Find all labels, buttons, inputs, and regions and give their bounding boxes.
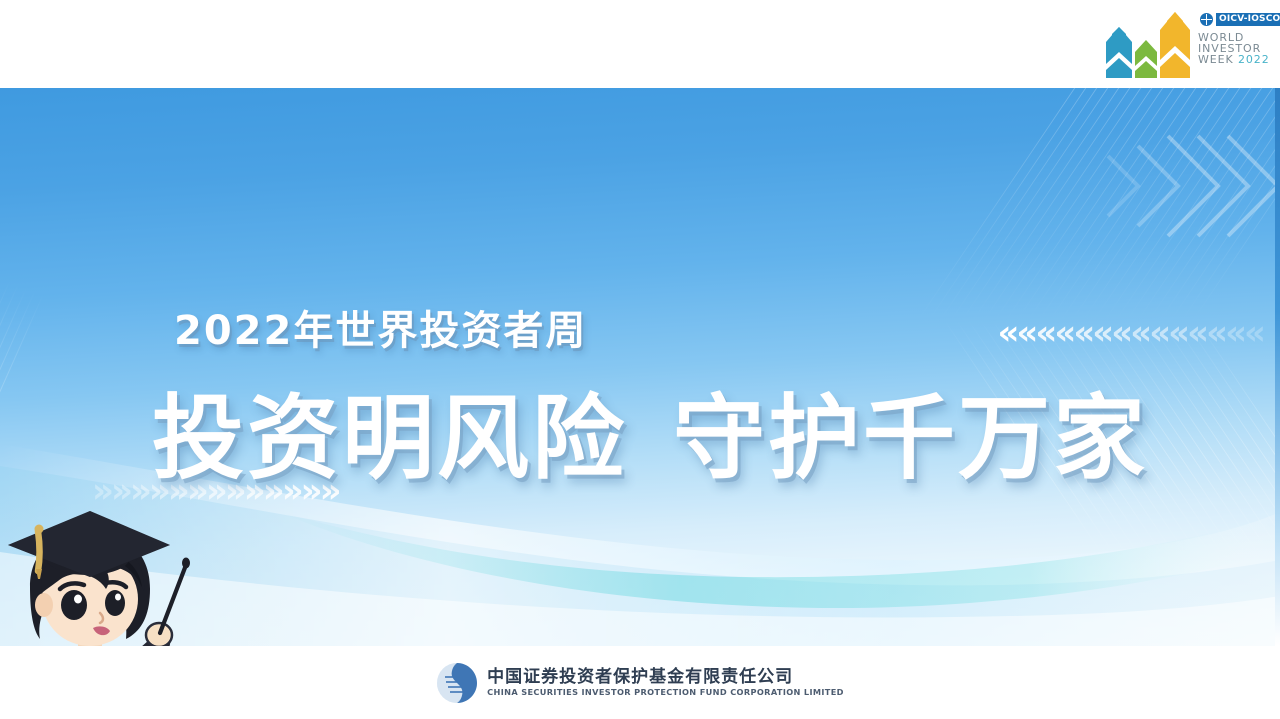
- three-pencils-icon: [1102, 8, 1194, 82]
- wiw-line-week: WEEK 2022: [1198, 54, 1270, 65]
- footer-org-text: 中国证券投资者保护基金有限责任公司 CHINA SECURITIES INVES…: [487, 668, 844, 697]
- top-strip: OICV-IOSCO WORLD INVESTOR WEEK 2022: [0, 0, 1280, 88]
- footer-org-cn: 中国证券投资者保护基金有限责任公司: [487, 668, 844, 687]
- footer-bar: 中国证券投资者保护基金有限责任公司 CHINA SECURITIES INVES…: [0, 646, 1280, 719]
- footer-logo-group: 中国证券投资者保护基金有限责任公司 CHINA SECURITIES INVES…: [436, 662, 844, 704]
- headline-part-2: 守护千万家: [673, 385, 1148, 492]
- poster-subtitle: 2022年世界投资者周: [174, 298, 587, 356]
- ghost-chevrons-decor: [980, 88, 1280, 288]
- footer-org-en: CHINA SECURITIES INVESTOR PROTECTION FUN…: [487, 688, 844, 697]
- wiw-text-block: WORLD INVESTOR WEEK 2022: [1198, 32, 1270, 66]
- world-investor-week-logo: OICV-IOSCO WORLD INVESTOR WEEK 2022: [1102, 4, 1262, 84]
- poster-headline: 投资明风险守护千万家: [152, 364, 1148, 497]
- iosco-badge: OICV-IOSCO: [1200, 13, 1280, 26]
- poster-root: OICV-IOSCO WORLD INVESTOR WEEK 2022: [0, 0, 1280, 719]
- wiw-week-text: WEEK: [1198, 53, 1234, 66]
- iosco-label: OICV-IOSCO: [1216, 13, 1280, 25]
- banner-right-edge: [1275, 88, 1280, 646]
- iosco-globe-icon: [1200, 13, 1213, 26]
- csipf-swirl-icon: [436, 662, 478, 704]
- headline-part-1: 投资明风险: [152, 385, 627, 492]
- wiw-year: 2022: [1238, 53, 1270, 66]
